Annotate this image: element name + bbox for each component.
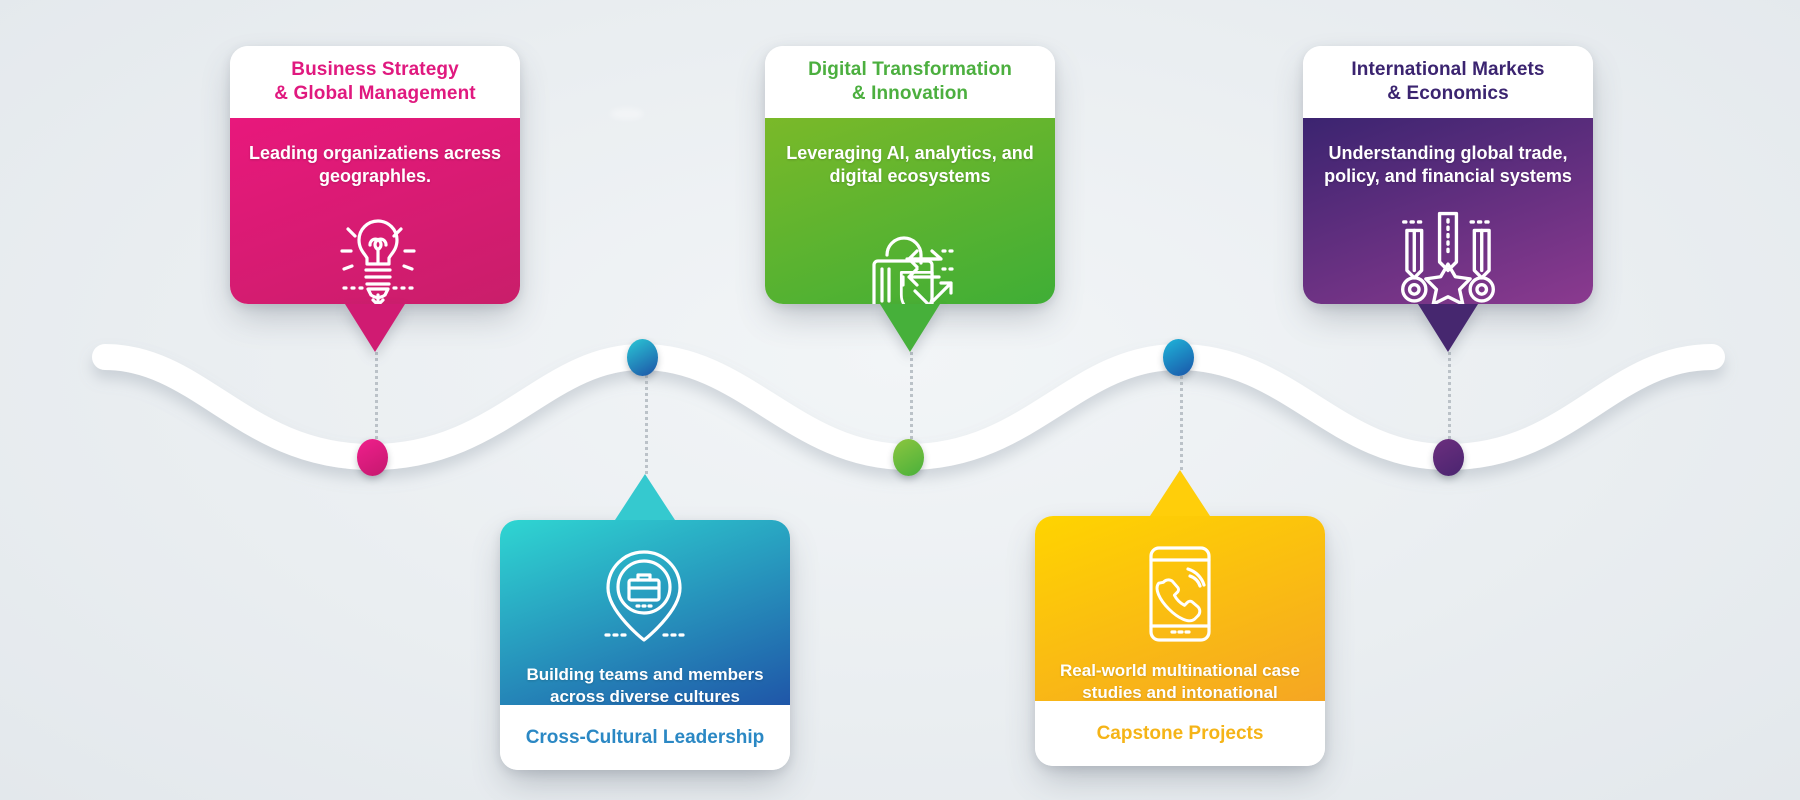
card-international-markets[interactable]: International Markets& EconomicsUndersta… bbox=[1303, 46, 1593, 304]
card-inner: Real-world multinational casestudies and… bbox=[1035, 516, 1325, 766]
card-digital-transformation[interactable]: Digital Transformation& InnovationLevera… bbox=[765, 46, 1055, 304]
wave-milestone-dot-digital-transformation[interactable] bbox=[893, 439, 924, 476]
card-body-text-business-strategy-line: Leading organizatiens acress bbox=[249, 142, 501, 165]
card-title-line: Business Strategy bbox=[291, 58, 459, 82]
card-footer-cross-cultural-leadership: Cross-Cultural Leadership bbox=[500, 705, 790, 770]
card-title-line: & Economics bbox=[1387, 82, 1508, 106]
card-pointer-digital-transformation bbox=[880, 304, 940, 352]
card-body-text-digital-transformation-line: digital ecosystems bbox=[786, 165, 1033, 188]
card-title-international-markets: International Markets& Economics bbox=[1303, 46, 1593, 118]
three-medals-award-icon bbox=[1389, 203, 1507, 304]
card-title-line: Digital Transformation bbox=[808, 58, 1012, 82]
card-title-line: International Markets bbox=[1351, 58, 1544, 82]
card-title-business-strategy: Business Strategy& Global Management bbox=[230, 46, 520, 118]
card-body-capstone-projects: Real-world multinational casestudies and… bbox=[1035, 516, 1325, 701]
card-pointer-international-markets bbox=[1418, 304, 1478, 352]
card-footer-capstone-projects: Capstone Projects bbox=[1035, 701, 1325, 766]
card-cross-cultural-leadership[interactable]: Building teams and membersacross diverse… bbox=[500, 520, 790, 770]
lock-shield-transfer-icon bbox=[854, 203, 966, 304]
card-footer-label: Cross-Cultural Leadership bbox=[526, 727, 765, 749]
wave-milestone-dot-capstone-projects[interactable] bbox=[1163, 339, 1194, 376]
card-business-strategy[interactable]: Business Strategy& Global ManagementLead… bbox=[230, 46, 520, 304]
card-body-cross-cultural-leadership: Building teams and membersacross diverse… bbox=[500, 520, 790, 705]
wave-milestone-dot-cross-cultural-leadership[interactable] bbox=[627, 339, 658, 376]
card-pointer-business-strategy bbox=[345, 304, 405, 352]
card-body-text-business-strategy-line: geographles. bbox=[249, 165, 501, 188]
card-inner: International Markets& EconomicsUndersta… bbox=[1303, 46, 1593, 304]
card-inner: Digital Transformation& InnovationLevera… bbox=[765, 46, 1055, 304]
card-title-line: & Innovation bbox=[852, 82, 968, 106]
infographic-canvas: Business Strategy& Global ManagementLead… bbox=[0, 0, 1800, 800]
card-inner: Building teams and membersacross diverse… bbox=[500, 520, 790, 770]
card-pointer-capstone-projects bbox=[1150, 470, 1210, 516]
card-body-international-markets: Understanding global trade,policy, and f… bbox=[1303, 118, 1593, 304]
card-body-text-international-markets-line: policy, and financial systems bbox=[1324, 165, 1572, 188]
lightbulb-idea-icon bbox=[319, 203, 431, 304]
card-title-line: & Global Management bbox=[274, 82, 475, 106]
card-body-text-digital-transformation: Leveraging AI, analytics, anddigital eco… bbox=[786, 142, 1033, 189]
card-body-digital-transformation: Leveraging AI, analytics, anddigital eco… bbox=[765, 118, 1055, 304]
location-pin-briefcase-icon bbox=[589, 542, 701, 654]
card-capstone-projects[interactable]: Real-world multinational casestudies and… bbox=[1035, 516, 1325, 766]
card-body-text-capstone-projects-line: Real-world multinational case bbox=[1060, 660, 1300, 682]
card-inner: Business Strategy& Global ManagementLead… bbox=[230, 46, 520, 304]
smartphone-call-icon bbox=[1124, 538, 1236, 650]
card-body-text-cross-cultural-leadership: Building teams and membersacross diverse… bbox=[526, 664, 763, 708]
card-body-text-international-markets: Understanding global trade,policy, and f… bbox=[1324, 142, 1572, 189]
decorative-patch bbox=[610, 108, 644, 120]
card-body-text-cross-cultural-leadership-line: Building teams and members bbox=[526, 664, 763, 686]
card-pointer-cross-cultural-leadership bbox=[615, 474, 675, 520]
card-body-text-digital-transformation-line: Leveraging AI, analytics, and bbox=[786, 142, 1033, 165]
card-body-text-business-strategy: Leading organizatiens acressgeographles. bbox=[249, 142, 501, 189]
card-footer-label: Capstone Projects bbox=[1097, 723, 1264, 745]
card-body-text-international-markets-line: Understanding global trade, bbox=[1324, 142, 1572, 165]
wave-milestone-dot-business-strategy[interactable] bbox=[357, 439, 388, 476]
wave-milestone-dot-international-markets[interactable] bbox=[1433, 439, 1464, 476]
card-title-digital-transformation: Digital Transformation& Innovation bbox=[765, 46, 1055, 118]
card-body-business-strategy: Leading organizatiens acressgeographles. bbox=[230, 118, 520, 304]
